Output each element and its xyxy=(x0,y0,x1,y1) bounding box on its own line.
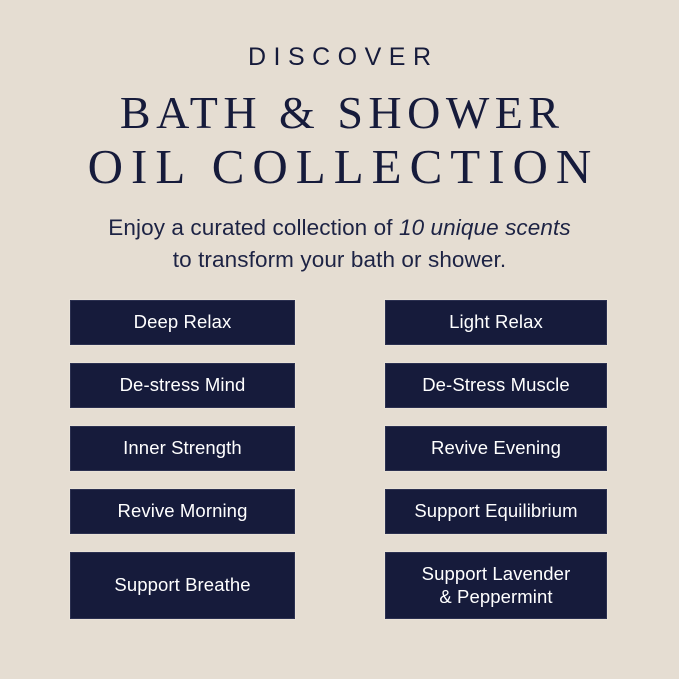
scent-chip-label: Inner Strength xyxy=(123,437,242,460)
scent-chip-label: Revive Morning xyxy=(118,500,248,523)
headline-word-shower: SHOWER xyxy=(337,87,564,138)
subtitle-second-line: to transform your bath or shower. xyxy=(60,244,620,276)
promo-poster: DISCOVER BATH & SHOWER OIL COLLECTION En… xyxy=(0,0,679,679)
scent-chip-de-stress-muscle[interactable]: De-Stress Muscle xyxy=(385,363,607,408)
headline-word-bath: BATH xyxy=(120,87,262,138)
scent-grid: Deep Relax De-stress Mind Inner Strength… xyxy=(70,300,607,619)
scent-chip-label-line-2: & Peppermint xyxy=(422,586,571,609)
scent-chip-label: Light Relax xyxy=(449,311,543,334)
scent-column-right: Light Relax De-Stress Muscle Revive Even… xyxy=(385,300,607,619)
scent-chip-label: De-stress Mind xyxy=(120,374,246,397)
scent-chip-de-stress-mind[interactable]: De-stress Mind xyxy=(70,363,295,408)
headline-ampersand: & xyxy=(279,87,320,138)
scent-chip-revive-morning[interactable]: Revive Morning xyxy=(70,489,295,534)
subtitle-emphasis-text: 10 unique scents xyxy=(399,215,571,240)
scent-chip-label: Deep Relax xyxy=(134,311,232,334)
scent-chip-light-relax[interactable]: Light Relax xyxy=(385,300,607,345)
scent-chip-support-lavender-peppermint[interactable]: Support Lavender & Peppermint xyxy=(385,552,607,619)
poster-header: DISCOVER BATH & SHOWER OIL COLLECTION En… xyxy=(0,0,679,276)
subtitle-lead-text: Enjoy a curated collection of xyxy=(108,215,399,240)
scent-chip-label: Support Breathe xyxy=(114,574,250,597)
eyebrow-label: DISCOVER xyxy=(0,44,679,72)
subtitle: Enjoy a curated collection of 10 unique … xyxy=(60,212,620,276)
scent-chip-deep-relax[interactable]: Deep Relax xyxy=(70,300,295,345)
page-title: BATH & SHOWER OIL COLLECTION xyxy=(0,86,679,196)
scent-chip-revive-evening[interactable]: Revive Evening xyxy=(385,426,607,471)
scent-chip-label: Revive Evening xyxy=(431,437,561,460)
scent-chip-label-line-1: Support Lavender xyxy=(422,563,571,586)
scent-chip-label: Support Equilibrium xyxy=(414,500,577,523)
headline-line-oil-collection: OIL COLLECTION xyxy=(0,139,679,196)
scent-chip-inner-strength[interactable]: Inner Strength xyxy=(70,426,295,471)
scent-chip-support-breathe[interactable]: Support Breathe xyxy=(70,552,295,619)
scent-chip-support-equilibrium[interactable]: Support Equilibrium xyxy=(385,489,607,534)
scent-chip-label: De-Stress Muscle xyxy=(422,374,570,397)
scent-column-left: Deep Relax De-stress Mind Inner Strength… xyxy=(70,300,295,619)
